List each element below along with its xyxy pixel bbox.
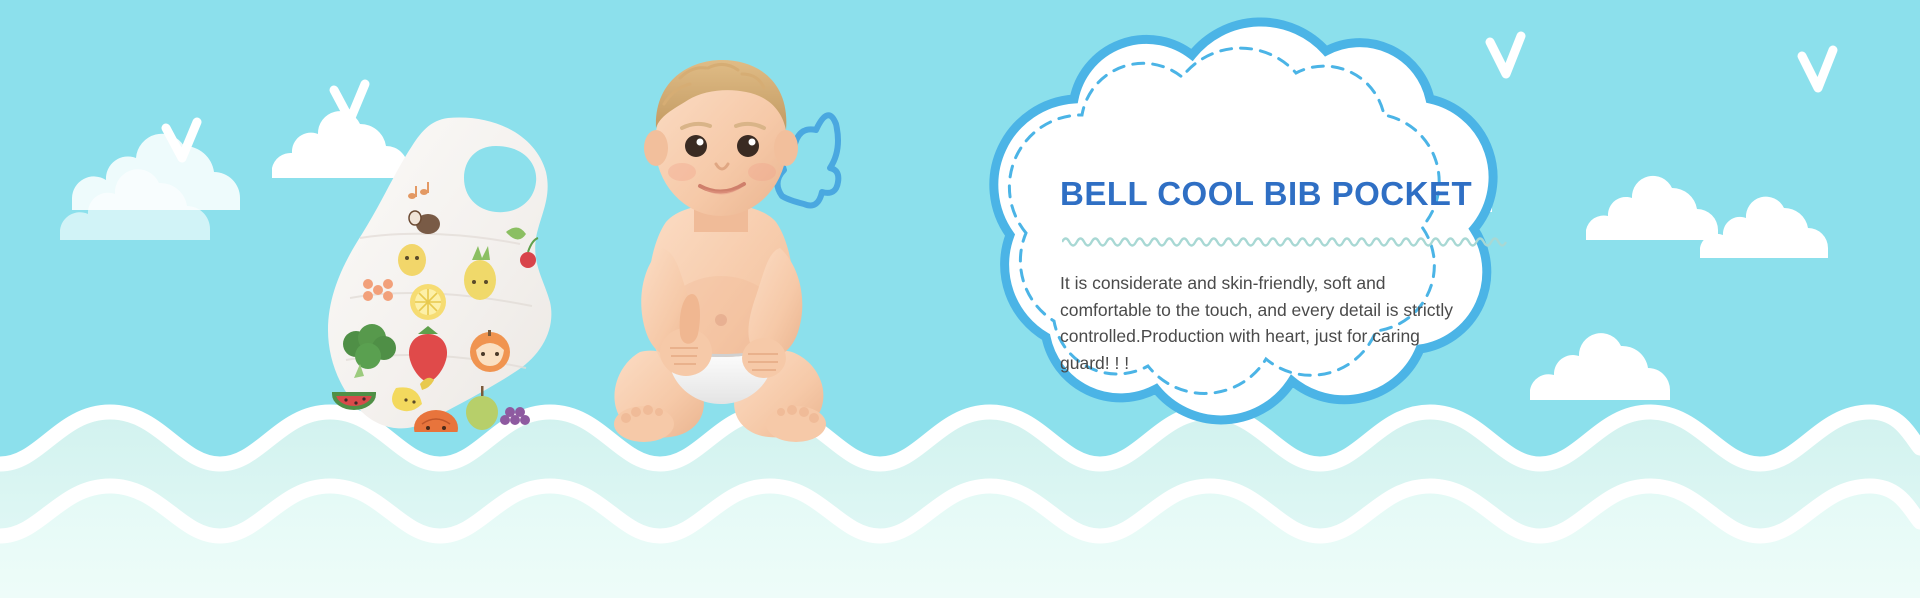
cloud-speech-bubble bbox=[0, 0, 1920, 598]
promo-banner: BELL COOL BIB POCKET It is considerate a… bbox=[0, 0, 1920, 598]
bubble-body-text: It is considerate and skin-friendly, sof… bbox=[1060, 270, 1460, 376]
bubble-title: BELL COOL BIB POCKET bbox=[1060, 176, 1530, 212]
bubble-text-block: BELL COOL BIB POCKET It is considerate a… bbox=[1060, 176, 1530, 377]
wavy-divider bbox=[1062, 234, 1507, 248]
